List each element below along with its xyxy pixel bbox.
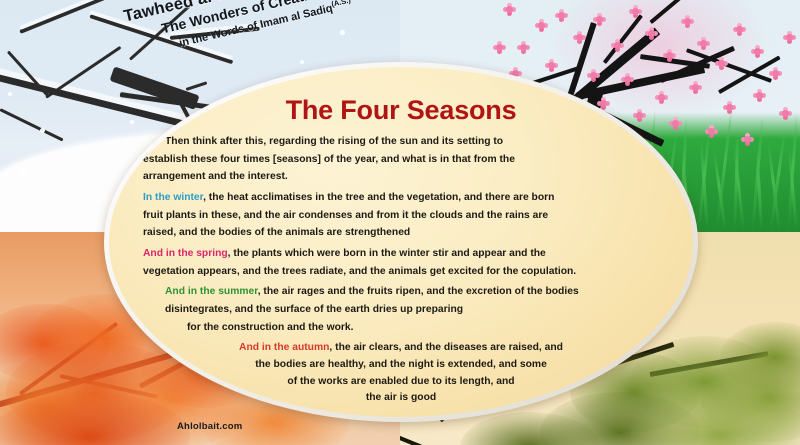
winter-line-1: In the winter, the heat acclimatises in … bbox=[143, 190, 659, 207]
cherry-blossom bbox=[700, 40, 707, 47]
cherry-blossom bbox=[666, 52, 673, 59]
spring-line-2: vegetation appears, and the trees radiat… bbox=[143, 264, 659, 281]
cherry-blossom bbox=[754, 48, 761, 55]
snowflake bbox=[40, 128, 45, 133]
autumn-line-1-rest: , the air clears, and the diseases are r… bbox=[329, 342, 563, 353]
cherry-blossom bbox=[772, 70, 779, 77]
spring-label: And in the spring bbox=[143, 248, 228, 259]
spring-line-1: And in the spring, the plants which were… bbox=[143, 246, 659, 263]
cherry-blossom bbox=[520, 44, 527, 51]
autumn-line-3: of the works are enabled due to its leng… bbox=[143, 374, 659, 391]
intro-line-3: arrangement and the interest. bbox=[143, 169, 659, 186]
summer-line-1: And in the summer, the air rages and the… bbox=[143, 284, 659, 301]
cherry-blossom bbox=[756, 92, 763, 99]
central-oval: The Four Seasons Then think after this, … bbox=[104, 62, 698, 422]
cherry-blossom bbox=[538, 22, 545, 29]
cherry-blossom bbox=[506, 6, 513, 13]
summer-line-3: for the construction and the work. bbox=[143, 320, 659, 337]
snowflake bbox=[62, 190, 67, 195]
autumn-label: And in the autumn bbox=[239, 342, 329, 353]
cherry-blossom bbox=[576, 34, 583, 41]
snowflake bbox=[88, 150, 92, 154]
summer-line-3-text: for the construction and the work. bbox=[187, 322, 353, 333]
cherry-blossom bbox=[648, 30, 655, 37]
spring-block: And in the spring, the plants which were… bbox=[143, 246, 659, 280]
autumn-line-2: the bodies are healthy, and the night is… bbox=[143, 357, 659, 374]
cherry-blossom bbox=[786, 34, 793, 41]
autumn-line-4: the air is good bbox=[143, 390, 659, 407]
winter-block: In the winter, the heat acclimatises in … bbox=[143, 190, 659, 242]
winter-line-1-rest: , the heat acclimatises in the tree and … bbox=[203, 192, 554, 203]
cherry-blossom bbox=[558, 12, 565, 19]
intro-line-1-text: Then think after this, regarding the ris… bbox=[165, 136, 503, 147]
cherry-blossom bbox=[708, 128, 715, 135]
snowflake bbox=[20, 168, 26, 174]
cherry-blossom bbox=[744, 136, 751, 143]
site-credit: Ahlolbait.com bbox=[177, 421, 242, 432]
cherry-blossom bbox=[726, 104, 733, 111]
four-seasons-poster: Tawheed al Mufaddal: The Wonders of Crea… bbox=[0, 0, 800, 445]
winter-line-3: raised, and the bodies of the animals ar… bbox=[143, 225, 659, 242]
ribbon-honorific-sup: (A.S.) bbox=[330, 0, 351, 9]
cherry-blossom bbox=[684, 18, 691, 25]
summer-line-2: disintegrates, and the surface of the ea… bbox=[143, 302, 659, 319]
cherry-blossom bbox=[596, 16, 603, 23]
page-title: The Four Seasons bbox=[143, 95, 659, 126]
oval-face: The Four Seasons Then think after this, … bbox=[109, 67, 693, 417]
summer-line-1-rest: , the air rages and the fruits ripen, an… bbox=[258, 286, 579, 297]
cherry-blossom bbox=[632, 8, 639, 15]
intro-block: Then think after this, regarding the ris… bbox=[143, 134, 659, 186]
cherry-blossom bbox=[736, 26, 743, 33]
summer-block: And in the summer, the air rages and the… bbox=[143, 284, 659, 336]
autumn-line-1: And in the autumn, the air clears, and t… bbox=[143, 340, 659, 357]
intro-line-2: establish these four times [seasons] of … bbox=[143, 152, 659, 169]
intro-line-1: Then think after this, regarding the ris… bbox=[143, 134, 659, 151]
cherry-blossom bbox=[718, 60, 725, 67]
oval-content: The Four Seasons Then think after this, … bbox=[109, 67, 693, 407]
cherry-blossom bbox=[614, 42, 621, 49]
summer-line-2-text: disintegrates, and the surface of the ea… bbox=[165, 304, 463, 315]
spring-line-1-rest: , the plants which were born in the wint… bbox=[228, 248, 546, 259]
cherry-blossom bbox=[496, 44, 503, 51]
cherry-blossom bbox=[782, 110, 789, 117]
autumn-block: And in the autumn, the air clears, and t… bbox=[143, 340, 659, 407]
winter-line-2: fruit plants in these, and the air conde… bbox=[143, 208, 659, 225]
summer-label: And in the summer bbox=[165, 286, 258, 297]
winter-branch-6 bbox=[0, 108, 64, 141]
snowflake bbox=[8, 92, 12, 96]
winter-label: In the winter bbox=[143, 192, 203, 203]
snowflake bbox=[340, 30, 345, 35]
